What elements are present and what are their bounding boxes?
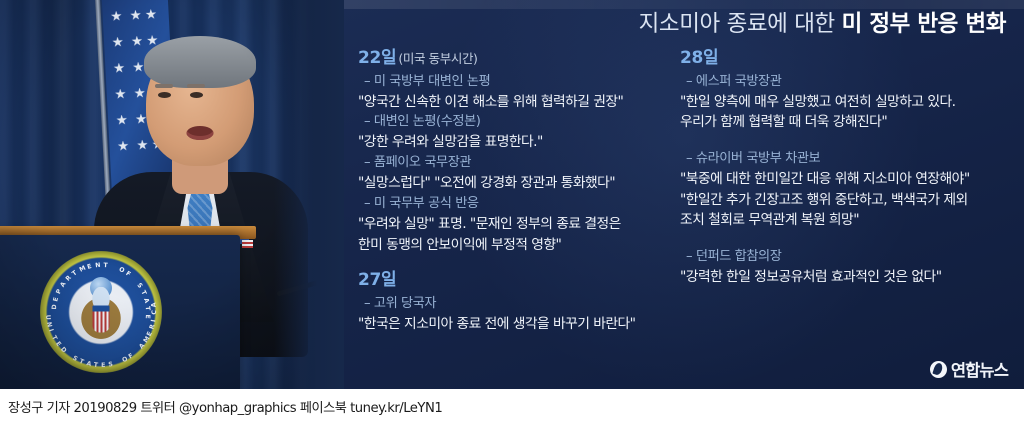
date-group: 27일– 고위 당국자"한국은 지소미아 종료 전에 생각을 바꾸기 바란다" [358, 268, 658, 334]
statement-source: – 슈라이버 국방부 차관보 [680, 149, 1016, 169]
yonhap-swirl-icon [930, 361, 947, 378]
page-title: 지소미아 종료에 대한 미 정부 반응 변화 [639, 10, 1006, 38]
statement-quote: "강한 우려와 실망감을 표명한다." [358, 132, 658, 153]
statement-entry: – 미 국무부 공식 반응"우려와 실망" 표명. "문재인 정부의 종료 결정… [358, 194, 658, 255]
statement-entry: – 슈라이버 국방부 차관보"북중에 대한 한미일간 대응 위해 지소미아 연장… [680, 149, 1016, 231]
statement-entry: – 미 국방부 대변인 논평"양국간 신속한 이견 해소를 위해 협력하길 권장… [358, 72, 658, 113]
statement-source: – 고위 당국자 [358, 294, 658, 314]
yonhap-logo-text: 연합뉴스 [951, 357, 1008, 381]
date-heading: 28일 [680, 46, 718, 72]
statement-source: – 대변인 논평(수정본) [358, 112, 658, 132]
page-title-bold: 미 정부 반응 변화 [842, 11, 1006, 37]
content-panel: 지소미아 종료에 대한 미 정부 반응 변화 22일(미국 동부시간)– 미 국… [344, 0, 1024, 389]
statement-quote: "한국은 지소미아 종료 전에 생각을 바꾸기 바란다" [358, 314, 658, 335]
photo-right-fade [274, 0, 344, 389]
date-group: 22일(미국 동부시간)– 미 국방부 대변인 논평"양국간 신속한 이견 해소… [358, 46, 658, 255]
statement-source: – 던퍼드 합참의장 [680, 247, 1016, 267]
date-timezone: (미국 동부시간) [398, 51, 477, 66]
statement-source: – 폼페이오 국무장관 [358, 153, 658, 173]
statement-entry: – 에스퍼 국방장관"한일 양측에 매우 실망했고 여전히 실망하고 있다.우리… [680, 72, 1016, 133]
statement-quote: 우리가 함께 협력할 때 더욱 강해진다" [680, 112, 1016, 133]
statement-quote: 조치 철회로 무역관계 복원 희망" [680, 210, 1016, 231]
statement-quote: "강력한 한일 정보공유처럼 효과적인 것은 없다" [680, 267, 1016, 288]
footer-credit: 장성구 기자 20190829 트위터 @yonhap_graphics 페이스… [0, 397, 442, 416]
statement-entry: – 고위 당국자"한국은 지소미아 종료 전에 생각을 바꾸기 바란다" [358, 294, 658, 335]
date-heading: 22일(미국 동부시간) [358, 46, 478, 72]
statement-quote: "한일간 추가 긴장고조 행위 중단하고, 백색국가 제외 [680, 190, 1016, 211]
statement-quote: "북중에 대한 한미일간 대응 위해 지소미아 연장해야" [680, 169, 1016, 190]
statement-quote: "양국간 신속한 이견 해소를 위해 협력하길 권장" [358, 92, 658, 113]
statement-quote: "실망스럽다" "오전에 강경화 장관과 통화했다" [358, 173, 658, 194]
photo-pompeo-briefing: DEPARTMENT OF STATE UNITED STATES OF AME… [0, 0, 344, 389]
footer-bar: 장성구 기자 20190829 트위터 @yonhap_graphics 페이스… [0, 389, 1024, 424]
statement-source: – 에스퍼 국방장관 [680, 72, 1016, 92]
statement-entry: – 대변인 논평(수정본)"강한 우려와 실망감을 표명한다." [358, 112, 658, 153]
statement-entry: – 폼페이오 국무장관"실망스럽다" "오전에 강경화 장관과 통화했다" [358, 153, 658, 194]
infographic-root: DEPARTMENT OF STATE UNITED STATES OF AME… [0, 0, 1024, 424]
statement-quote: "우려와 실망" 표명. "문재인 정부의 종료 결정은 [358, 214, 658, 235]
statement-source: – 미 국무부 공식 반응 [358, 194, 658, 214]
page-title-normal: 지소미아 종료에 대한 [639, 11, 842, 37]
column-left: 22일(미국 동부시간)– 미 국방부 대변인 논평"양국간 신속한 이견 해소… [344, 46, 666, 389]
date-group: 28일– 에스퍼 국방장관"한일 양측에 매우 실망했고 여전히 실망하고 있다… [680, 46, 1016, 288]
yonhap-logo: 연합뉴스 [930, 357, 1008, 381]
statement-quote: 한미 동맹의 안보이익에 부정적 영향" [358, 235, 658, 256]
date-heading: 27일 [358, 268, 396, 294]
statement-quote: "한일 양측에 매우 실망했고 여전히 실망하고 있다. [680, 92, 1016, 113]
statement-source: – 미 국방부 대변인 논평 [358, 72, 658, 92]
column-right: 28일– 에스퍼 국방장관"한일 양측에 매우 실망했고 여전히 실망하고 있다… [666, 46, 1024, 389]
statement-entry: – 던퍼드 합참의장"강력한 한일 정보공유처럼 효과적인 것은 없다" [680, 247, 1016, 288]
columns-wrapper: 22일(미국 동부시간)– 미 국방부 대변인 논평"양국간 신속한 이견 해소… [344, 46, 1024, 389]
